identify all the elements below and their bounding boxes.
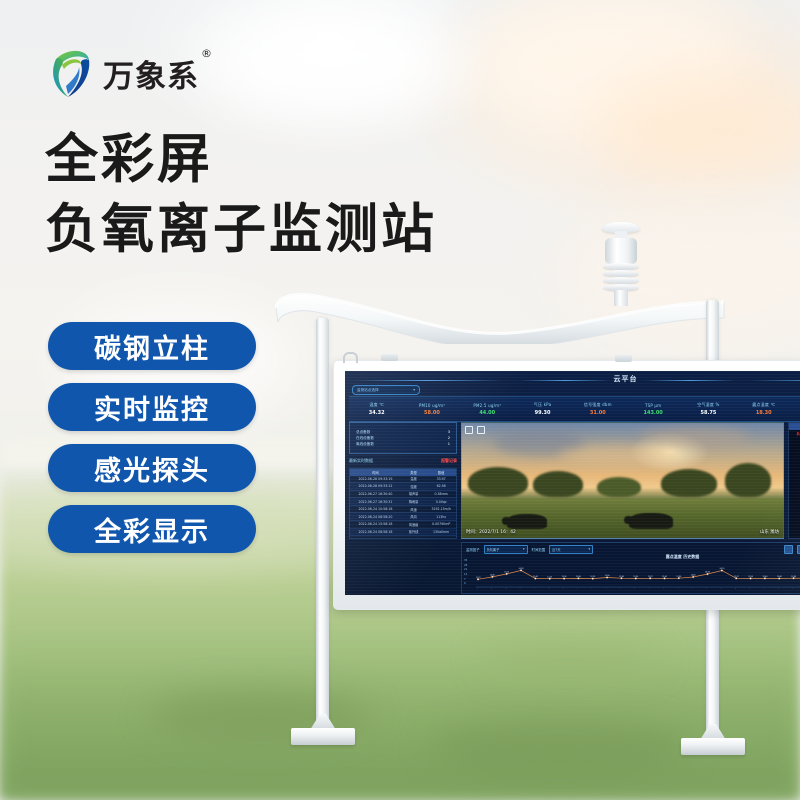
alarm-panel-header: 最新实时数据 报警记录 <box>349 457 457 465</box>
metric-label: 露点温度 ℃ <box>752 402 775 408</box>
range-select[interactable]: 近7天▾ <box>549 545 593 554</box>
cell-time: 2022-06-27 16:30:31 <box>350 500 401 504</box>
cell-type: 风速 <box>401 507 426 512</box>
svg-text:06-27 19: 06-27 19 <box>673 588 679 589</box>
svg-text:06-27 01: 06-27 01 <box>630 588 636 589</box>
camera-controls[interactable] <box>465 426 485 434</box>
mount-hook <box>343 352 358 363</box>
headline-line-1: 全彩屏 <box>45 125 437 195</box>
chevron-down-icon: ▾ <box>523 547 525 551</box>
cell-type: 降雨量 <box>401 499 426 504</box>
device-stat-row: 总设备数 3 <box>356 430 450 435</box>
cell-type: 风向 <box>401 514 426 519</box>
station-select-value: 监测站点选择 <box>357 388 379 393</box>
cell-time: 2022-06-24 08:58:18 <box>350 530 401 534</box>
range-label: 时间范围 <box>532 547 546 552</box>
svg-text:06-25 19: 06-25 19 <box>558 588 564 589</box>
metric-value: 58.75 <box>701 410 717 416</box>
svg-text:24.28: 24.28 <box>519 568 524 570</box>
alarm-row[interactable]: 负氧离子监测站 温度超标 已超出报警上限值 <box>789 430 800 437</box>
field-shadow <box>0 640 800 800</box>
table-row[interactable]: 2022-06-24 08:58:18 紫外线 130a0mm <box>350 529 456 537</box>
svg-text:12.40: 12.40 <box>533 576 538 578</box>
base-plate-left <box>291 728 355 745</box>
table-row[interactable]: 2022-06-27 16:30:31 降雨量 0.00qz <box>350 498 456 506</box>
svg-text:06-26 07: 06-26 07 <box>587 588 593 589</box>
cell-time: 2022-06-24 10:58:18 <box>350 507 401 511</box>
right-panel-header: 序号 报警信息 <box>789 423 800 430</box>
feature-badge-4: 全彩显示 <box>48 505 256 553</box>
product-banner: 万象系 ® 全彩屏 负氧离子监测站 碳钢立柱 实时监控 感光探头 全彩显示 <box>0 0 800 800</box>
dashboard-screen[interactable]: 云平台 监测站点选择 ▾ 欢迎您：admin 退出 温度 ℃ 34.32 PM1… <box>345 371 800 595</box>
mount-tab <box>381 354 398 361</box>
metric-label: 信号强度 dbm <box>584 402 612 408</box>
device-stat-value: 1 <box>448 442 450 447</box>
svg-text:14.80: 14.80 <box>490 574 495 576</box>
svg-text:12.50: 12.50 <box>748 576 753 578</box>
metric-label: PM10 ug/m³ <box>419 403 445 408</box>
svg-text:12.80: 12.80 <box>791 576 796 578</box>
factor-select[interactable]: 负氧离子▾ <box>484 545 528 554</box>
col-index: 序号 <box>789 424 800 429</box>
brand-name: 万象系 ® <box>103 51 199 96</box>
svg-text:12.50: 12.50 <box>633 576 638 578</box>
cell-value: 3192.15m/h <box>426 507 456 511</box>
grass-patch <box>480 640 660 680</box>
device-stats-box: 总设备数 3 在线设备数 2 离线设备数 1 <box>349 422 457 454</box>
metric-value: 58.00 <box>424 410 440 416</box>
history-chart-panel: 监测因子 负氧离子▾ 时间范围 近7天▾ 2022-06-24 07:00 20… <box>461 542 800 594</box>
feature-badge-1: 碳钢立柱 <box>48 322 256 370</box>
metric-value: 99.30 <box>535 410 551 416</box>
metric-cell: TSP μm 143.00 <box>625 397 680 421</box>
svg-text:06-25 01: 06-25 01 <box>515 588 521 589</box>
left-sidebar: 总设备数 3 在线设备数 2 离线设备数 1 最新实时数据 报警记录 <box>349 422 457 539</box>
fullscreen-icon[interactable] <box>465 426 473 434</box>
metric-cell: 噪声 db 46.00 <box>791 397 800 421</box>
cow <box>629 513 673 529</box>
svg-text:06-26 01: 06-26 01 <box>573 588 579 589</box>
cell-type: 紫外线 <box>401 529 426 534</box>
metric-cell: 信号强度 dbm 31.00 <box>570 397 625 421</box>
base-plate-right <box>681 738 745 755</box>
chevron-down-icon: ▾ <box>413 388 415 392</box>
chevron-down-icon: ▾ <box>589 547 591 551</box>
svg-text:06-28 13: 06-28 13 <box>716 588 722 589</box>
svg-text:06-25 13: 06-25 13 <box>544 588 550 589</box>
cell-value: 33.97 <box>426 477 456 481</box>
table-row[interactable]: 2022-06-27 16:30:40 噪声量 0.38mm <box>350 491 456 499</box>
table-row[interactable]: 2022-06-28 09:33:12 湿度 62.58 <box>350 483 456 491</box>
feature-badge-list: 碳钢立柱 实时监控 感光探头 全彩显示 <box>48 322 256 553</box>
svg-text:06-28 19: 06-28 19 <box>730 588 736 589</box>
svg-text:12.70: 12.70 <box>734 576 739 578</box>
cell-type: 风速级 <box>401 522 426 527</box>
metric-value: 44.00 <box>479 410 495 416</box>
alarm-table-header: 时间 类型 数值 <box>350 469 456 476</box>
cell-time: 2022-06-27 16:30:40 <box>350 492 401 496</box>
tree <box>468 467 528 497</box>
dashboard-title: 云平台 <box>345 374 800 384</box>
tree <box>661 469 717 497</box>
cell-time: 2022-06-24 08:58:15 <box>350 538 401 539</box>
tree <box>725 463 771 497</box>
svg-text:12.90: 12.90 <box>676 576 681 578</box>
metric-label: TSP μm <box>645 403 661 408</box>
device-stat-row: 在线设备数 2 <box>356 436 450 441</box>
svg-text:06-29 19: 06-29 19 <box>788 588 794 589</box>
feature-badge-2: 实时监控 <box>48 383 256 431</box>
device-stat-label: 在线设备数 <box>356 436 374 441</box>
svg-text:06-27 07: 06-27 07 <box>644 588 650 589</box>
sensor-body <box>605 238 637 264</box>
camera-feed[interactable]: 时间：2022/7/1 16：42 山东 潍坊 <box>461 422 784 539</box>
factor-select-value: 负氧离子 <box>487 547 500 552</box>
range-select-value: 近7天 <box>552 547 560 552</box>
brand-name-text: 万象系 <box>103 59 199 95</box>
camera-location: 山东 潍坊 <box>760 529 779 535</box>
cell-value: 62.58 <box>426 484 456 488</box>
metric-label: 气压 kPa <box>534 402 551 408</box>
table-row[interactable]: 2022-06-24 15:58:18 风速级 0.00790mP <box>350 521 456 529</box>
svg-text:12.10: 12.10 <box>547 576 552 578</box>
cell-value: 130a0mm <box>426 530 456 534</box>
col-time: 时间 <box>350 470 401 475</box>
cell-type: 湿度 <box>401 484 426 489</box>
metric-value: 143.00 <box>643 410 662 416</box>
svg-text:06-26 13: 06-26 13 <box>601 588 607 589</box>
svg-text:06-24 13: 06-24 13 <box>487 588 493 589</box>
right-alarm-panel: 序号 报警信息 负氧离子监测站 温度超标 已超出报警上限值 <box>788 422 800 539</box>
sensor-disc <box>603 270 639 277</box>
device-stat-value: 2 <box>448 436 450 441</box>
svg-text:14.60: 14.60 <box>691 575 696 577</box>
y-axis-ticks: 3528211470 <box>464 560 467 586</box>
metric-cell: PM2.5 ug/m³ 44.00 <box>460 397 515 421</box>
headline-line-2: 负氧离子监测站 <box>45 195 437 265</box>
col-value: 数值 <box>426 470 456 475</box>
cell-time: 2022-06-24 15:58:18 <box>350 522 401 526</box>
snapshot-icon[interactable] <box>477 426 485 434</box>
cell-value: 0.00qz <box>426 500 456 504</box>
metric-value: 31.00 <box>590 410 606 416</box>
mount-tab <box>615 355 632 362</box>
dashboard-body: 总设备数 3 在线设备数 2 离线设备数 1 最新实时数据 报警记录 <box>349 422 800 539</box>
svg-text:06-24 07: 06-24 07 <box>476 588 479 589</box>
svg-text:12.40: 12.40 <box>777 576 782 578</box>
cell-value: 0.41mg/L <box>426 538 456 539</box>
svg-text:12.20: 12.20 <box>590 576 595 578</box>
cloud <box>200 10 460 120</box>
svg-text:19.10: 19.10 <box>504 572 509 574</box>
trademark-symbol: ® <box>201 47 213 60</box>
svg-text:12.30: 12.30 <box>562 576 567 578</box>
metric-cell: 露点温度 ℃ 18.30 <box>736 397 791 421</box>
cell-time: 2022-06-28 09:33:12 <box>350 484 401 488</box>
cell-value: 0.38mm <box>426 492 456 496</box>
svg-text:24.10: 24.10 <box>719 568 724 570</box>
svg-text:13.90: 13.90 <box>605 575 610 577</box>
metrics-strip: 温度 ℃ 34.32 PM10 ug/m³ 58.00 PM2.5 ug/m³ … <box>349 396 800 422</box>
alarm-panel-title: 最新实时数据 <box>349 458 373 464</box>
svg-text:06-28 01: 06-28 01 <box>687 588 693 589</box>
svg-text:12.60: 12.60 <box>576 576 581 578</box>
cell-type: 噪声量 <box>401 491 426 496</box>
metric-value: 18.30 <box>756 410 772 416</box>
metric-cell: PM10 ug/m³ 58.00 <box>404 397 459 421</box>
support-post-left <box>316 318 329 730</box>
svg-text:06-29 07: 06-29 07 <box>759 588 765 589</box>
device-stat-row: 离线设备数 1 <box>356 442 450 447</box>
brand-logo: 万象系 ® <box>48 46 199 100</box>
chart-title: 露点温度 历史数据 <box>462 554 800 560</box>
table-row[interactable]: 2022-06-24 08:58:15 总辐射 0.41mg/L <box>350 536 456 539</box>
wave-canopy <box>272 282 728 342</box>
col-type: 类型 <box>401 470 426 475</box>
grass-patch <box>430 720 690 775</box>
device-stat-label: 总设备数 <box>356 430 370 435</box>
table-row[interactable]: 2022-06-28 09:33:19 温度 33.97 <box>350 476 456 484</box>
cell-type: 温度 <box>401 476 426 481</box>
sensor-stem <box>614 290 628 306</box>
svg-text:06-29 01: 06-29 01 <box>745 588 751 589</box>
svg-text:06-29 13: 06-29 13 <box>773 588 779 589</box>
svg-text:06-28 07: 06-28 07 <box>702 588 708 589</box>
cloud <box>558 446 678 464</box>
svg-text:12.60: 12.60 <box>762 576 767 578</box>
alarm-table[interactable]: 时间 类型 数值 2022-06-28 09:33:19 温度 33.97 20… <box>349 468 457 539</box>
metric-cell: 温度 ℃ 34.32 <box>349 397 404 421</box>
camera-timestamp: 时间：2022/7/1 16：42 <box>466 529 516 535</box>
svg-text:18.90: 18.90 <box>705 572 710 574</box>
device-stat-value: 3 <box>448 430 450 435</box>
table-row[interactable]: 2022-06-24 08:58:20 风向 113hx <box>350 513 456 521</box>
weather-sensor-icon <box>598 222 644 304</box>
metric-cell: 气压 kPa 99.30 <box>515 397 570 421</box>
metric-label: 温度 ℃ <box>369 402 384 408</box>
svg-text:06-26 19: 06-26 19 <box>616 588 622 589</box>
station-select[interactable]: 监测站点选择 ▾ <box>352 385 420 395</box>
sensor-disc <box>603 263 639 270</box>
table-row[interactable]: 2022-06-24 10:58:18 风速 3192.15m/h <box>350 506 456 514</box>
cow <box>507 514 547 529</box>
cell-time: 2022-06-28 09:33:19 <box>350 477 401 481</box>
day-button[interactable] <box>784 545 793 554</box>
feature-badge-3: 感光探头 <box>48 444 256 492</box>
metric-cell: 空气湿度 % 58.75 <box>681 397 736 421</box>
svg-text:11.23: 11.23 <box>476 577 480 579</box>
line-chart-plot: 11.2306-24 0714.8006-24 1319.1006-24 192… <box>476 561 800 589</box>
svg-text:12.60: 12.60 <box>662 576 667 578</box>
alarm-index: 负氧离子监测站 <box>789 431 800 436</box>
metric-label: PM2.5 ug/m³ <box>473 403 501 408</box>
factor-label: 监测因子 <box>466 547 480 552</box>
sensor-disc <box>603 277 639 284</box>
cell-type: 总辐射 <box>401 537 426 539</box>
alarm-records-link[interactable]: 报警记录 <box>441 458 457 464</box>
svg-text:12.70: 12.70 <box>648 576 653 578</box>
tree <box>597 477 641 497</box>
globe-swirl-icon <box>48 46 94 100</box>
tree <box>533 471 583 497</box>
metric-value: 34.32 <box>369 410 385 416</box>
svg-text:06-24 19: 06-24 19 <box>501 588 507 589</box>
device-stat-label: 离线设备数 <box>356 442 374 447</box>
cell-value: 113hx <box>426 515 456 519</box>
cell-value: 0.00790mP <box>426 522 456 526</box>
headline: 全彩屏 负氧离子监测站 <box>45 125 437 265</box>
cell-time: 2022-06-24 08:58:20 <box>350 515 401 519</box>
svg-text:06-27 13: 06-27 13 <box>659 588 665 589</box>
metric-label: 空气湿度 % <box>697 402 719 408</box>
svg-text:12.80: 12.80 <box>619 576 624 578</box>
svg-text:06-25 07: 06-25 07 <box>530 588 536 589</box>
